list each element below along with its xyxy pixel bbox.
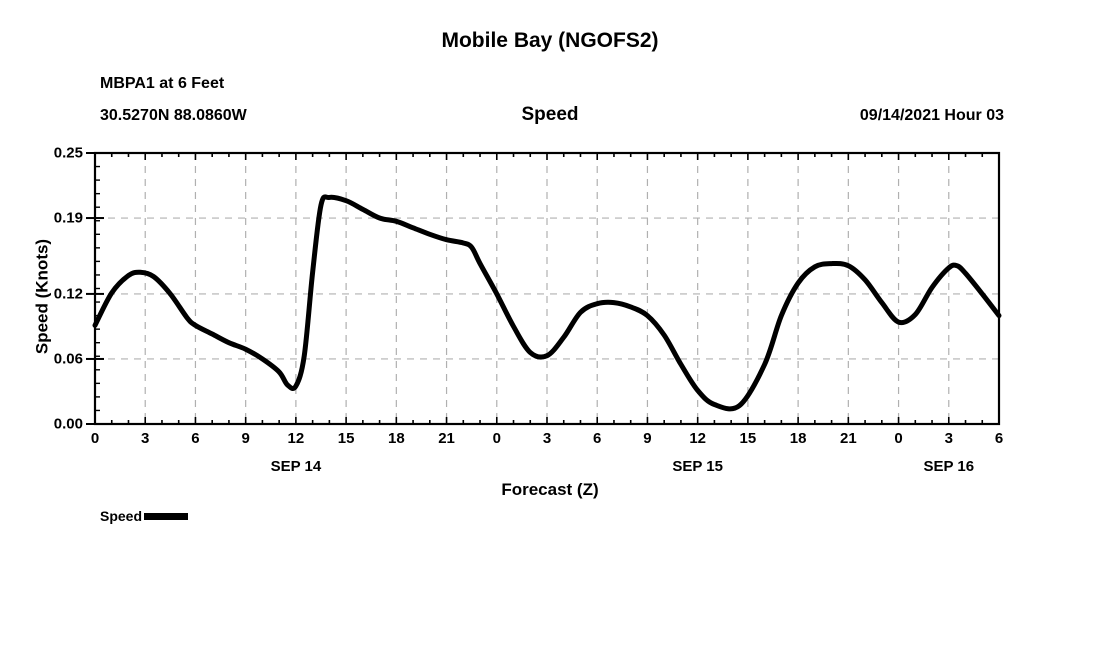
gridlines <box>95 153 999 424</box>
legend: Speed <box>100 508 188 524</box>
speed-forecast-figure: Mobile Bay (NGOFS2) MBPA1 at 6 Feet 30.5… <box>0 0 1100 650</box>
axis-ticks <box>86 153 999 424</box>
legend-line-swatch <box>144 513 188 520</box>
plot-area <box>0 0 1100 650</box>
legend-label: Speed <box>100 508 142 524</box>
